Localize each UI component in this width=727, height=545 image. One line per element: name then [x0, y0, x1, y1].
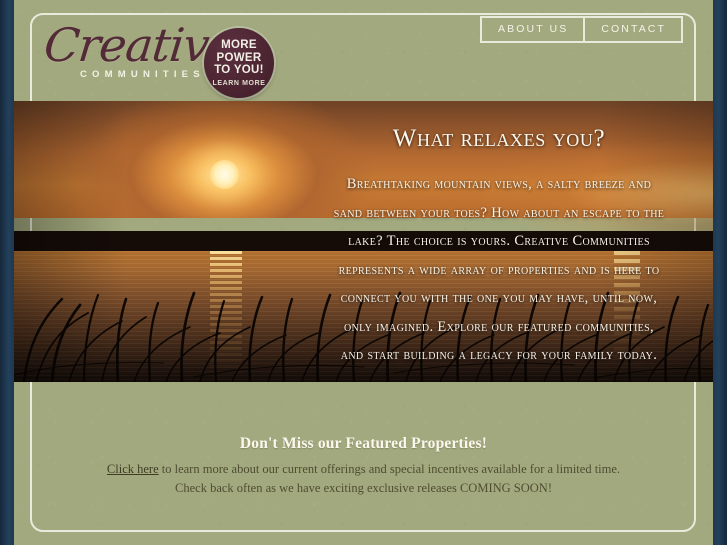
featured-properties-line-2: Check back often as we have exciting exc…: [14, 480, 713, 497]
featured-properties-section: Don't Miss our Featured Properties! Clic…: [14, 382, 713, 545]
click-here-link[interactable]: Click here: [107, 462, 159, 476]
left-gutter: [0, 0, 14, 545]
right-gutter: [713, 0, 727, 545]
featured-properties-line-1: Click here to learn more about our curre…: [14, 461, 713, 478]
hero-headline: What relaxes you?: [304, 125, 694, 153]
site-header: Creative COMMUNITIES MORE POWER TO YOU! …: [14, 0, 713, 101]
hero-body-line: connect you with the one you may have, u…: [304, 284, 694, 313]
page-root: Creative COMMUNITIES MORE POWER TO YOU! …: [0, 0, 727, 545]
site-logo[interactable]: Creative COMMUNITIES: [42, 22, 202, 80]
hero-body-line: Breathtaking mountain views, a salty bre…: [304, 170, 694, 199]
main-navigation: ABOUT US CONTACT: [480, 16, 683, 43]
badge-learn-more-label: LEARN MORE: [212, 80, 265, 87]
hero-body-line: only imagined. Explore our featured comm…: [304, 313, 694, 342]
content-canvas: Creative COMMUNITIES MORE POWER TO YOU! …: [14, 0, 713, 545]
badge-line-3: TO YOU!: [214, 64, 264, 77]
featured-properties-line-1-rest: to learn more about our current offering…: [159, 462, 620, 476]
logo-wordmark: Creative: [42, 22, 207, 68]
more-power-badge[interactable]: MORE POWER TO YOU! LEARN MORE: [204, 28, 274, 98]
badge-line-2: POWER: [217, 52, 262, 65]
featured-properties-heading: Don't Miss our Featured Properties!: [14, 435, 713, 453]
hero-body-line: sand between your toes? How about an esc…: [304, 199, 694, 228]
nav-item-contact[interactable]: CONTACT: [585, 16, 683, 43]
hero-body-line: represents a wide array of properties an…: [304, 256, 694, 285]
hero-body-line: lake? The choice is yours. Creative Comm…: [304, 227, 694, 256]
hero-body-line: and start building a legacy for your fam…: [304, 341, 694, 370]
hero-copy-block: What relaxes you? Breathtaking mountain …: [304, 125, 694, 370]
badge-line-1: MORE: [221, 39, 257, 52]
nav-item-about-us[interactable]: ABOUT US: [480, 16, 585, 43]
hero-banner: What relaxes you? Breathtaking mountain …: [14, 101, 713, 382]
